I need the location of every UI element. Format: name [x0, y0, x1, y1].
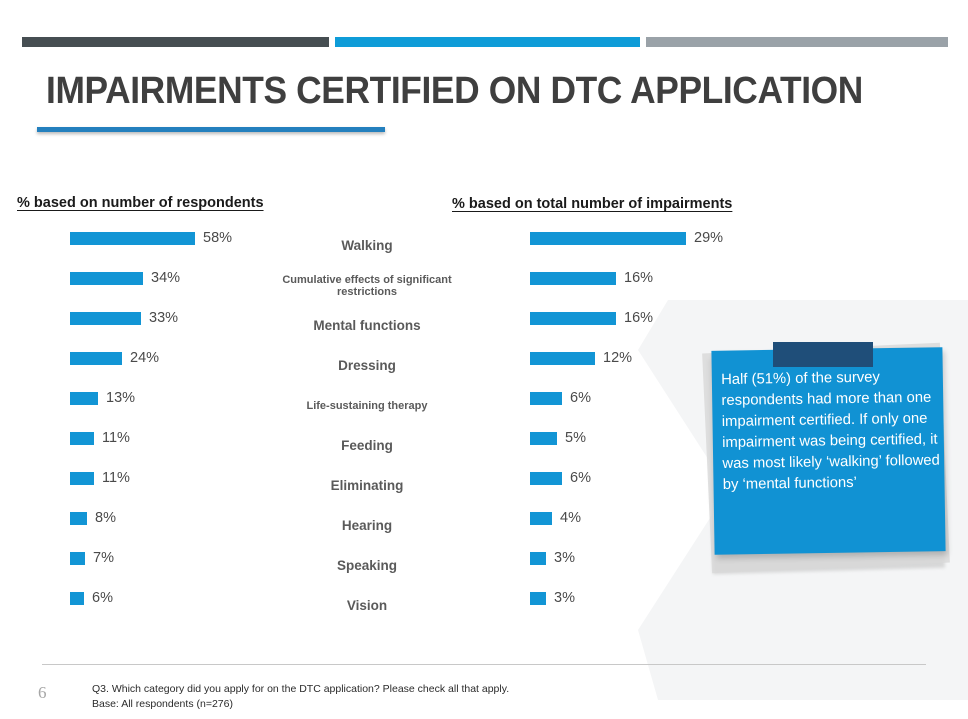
bar-impairments-4	[530, 392, 562, 405]
top-rule-segment-gray	[646, 37, 948, 47]
category-label: Hearing	[342, 518, 392, 533]
bar-value-label: 3%	[554, 586, 575, 610]
bar-value-label: 11%	[102, 466, 130, 490]
bar-value-label: 13%	[106, 386, 135, 410]
bar-respondents-1	[70, 272, 143, 285]
bar-value-label: 34%	[151, 266, 180, 290]
bar-impairments-2	[530, 312, 616, 325]
bar-impairments-7	[530, 512, 552, 525]
top-rule-segment-blue	[335, 37, 640, 47]
category-row: Vision	[258, 586, 476, 626]
category-label: Life-sustaining therapy	[306, 400, 427, 412]
callout-note-tape	[773, 342, 873, 367]
bar-respondents-8	[70, 552, 85, 565]
bar-value-label: 11%	[102, 426, 130, 450]
bar-value-label: 24%	[130, 346, 159, 370]
bar-value-label: 6%	[92, 586, 113, 610]
category-label-column: WalkingCumulative effects of significant…	[258, 226, 476, 626]
footer-question: Q3. Which category did you apply for on …	[92, 682, 509, 697]
bar-value-label: 12%	[603, 346, 632, 370]
bar-impairments-5	[530, 432, 557, 445]
callout-note-text: Half (51%) of the survey respondents had…	[721, 366, 949, 496]
footer-base: Base: All respondents (n=276)	[92, 697, 509, 712]
bar-respondents-9	[70, 592, 84, 605]
category-label: Speaking	[337, 558, 397, 573]
category-row: Dressing	[258, 346, 476, 386]
category-row: Eliminating	[258, 466, 476, 506]
category-label: Walking	[341, 238, 392, 253]
bar-value-label: 3%	[554, 546, 575, 570]
bar-respondents-7	[70, 512, 87, 525]
bar-value-label: 16%	[624, 306, 653, 330]
category-row: Hearing	[258, 506, 476, 546]
category-label: Cumulative effects of significant restri…	[258, 274, 476, 299]
category-label: Dressing	[338, 358, 396, 373]
category-row: Walking	[258, 226, 476, 266]
footer-divider	[42, 664, 926, 665]
right-panel-heading: % based on total number of impairments	[452, 196, 732, 212]
category-row: Cumulative effects of significant restri…	[258, 266, 476, 306]
bar-respondents-5	[70, 432, 94, 445]
bar-respondents-6	[70, 472, 94, 485]
bar-value-label: 16%	[624, 266, 653, 290]
slide-canvas: IMPAIRMENTS CERTIFIED ON DTC APPLICATION…	[0, 0, 968, 719]
bar-value-label: 5%	[565, 426, 586, 450]
bar-value-label: 7%	[93, 546, 114, 570]
bar-value-label: 6%	[570, 466, 591, 490]
category-label: Feeding	[341, 438, 393, 453]
bar-value-label: 29%	[694, 226, 723, 250]
page-number: 6	[38, 683, 47, 703]
bar-respondents-4	[70, 392, 98, 405]
bar-impairments-6	[530, 472, 562, 485]
left-panel-heading: % based on number of respondents	[17, 195, 264, 211]
bar-impairments-9	[530, 592, 546, 605]
category-row: Feeding	[258, 426, 476, 466]
top-rule-segment-dark	[22, 37, 329, 47]
bar-impairments-0	[530, 232, 686, 245]
bar-respondents-0	[70, 232, 195, 245]
title-underline	[37, 127, 385, 132]
category-label: Eliminating	[331, 478, 404, 493]
bar-impairments-1	[530, 272, 616, 285]
category-label: Mental functions	[313, 318, 420, 333]
page-title: IMPAIRMENTS CERTIFIED ON DTC APPLICATION	[46, 70, 863, 113]
bar-respondents-3	[70, 352, 122, 365]
bar-value-label: 58%	[203, 226, 232, 250]
footer-source-note: Q3. Which category did you apply for on …	[92, 682, 509, 712]
bar-value-label: 33%	[149, 306, 178, 330]
bar-impairments-8	[530, 552, 546, 565]
callout-note: Half (51%) of the survey respondents had…	[705, 340, 953, 575]
category-row: Mental functions	[258, 306, 476, 346]
bar-impairments-3	[530, 352, 595, 365]
bar-value-label: 6%	[570, 386, 591, 410]
category-label: Vision	[347, 598, 387, 613]
category-row: Speaking	[258, 546, 476, 586]
category-row: Life-sustaining therapy	[258, 386, 476, 426]
bar-value-label: 4%	[560, 506, 581, 530]
bar-respondents-2	[70, 312, 141, 325]
bar-value-label: 8%	[95, 506, 116, 530]
